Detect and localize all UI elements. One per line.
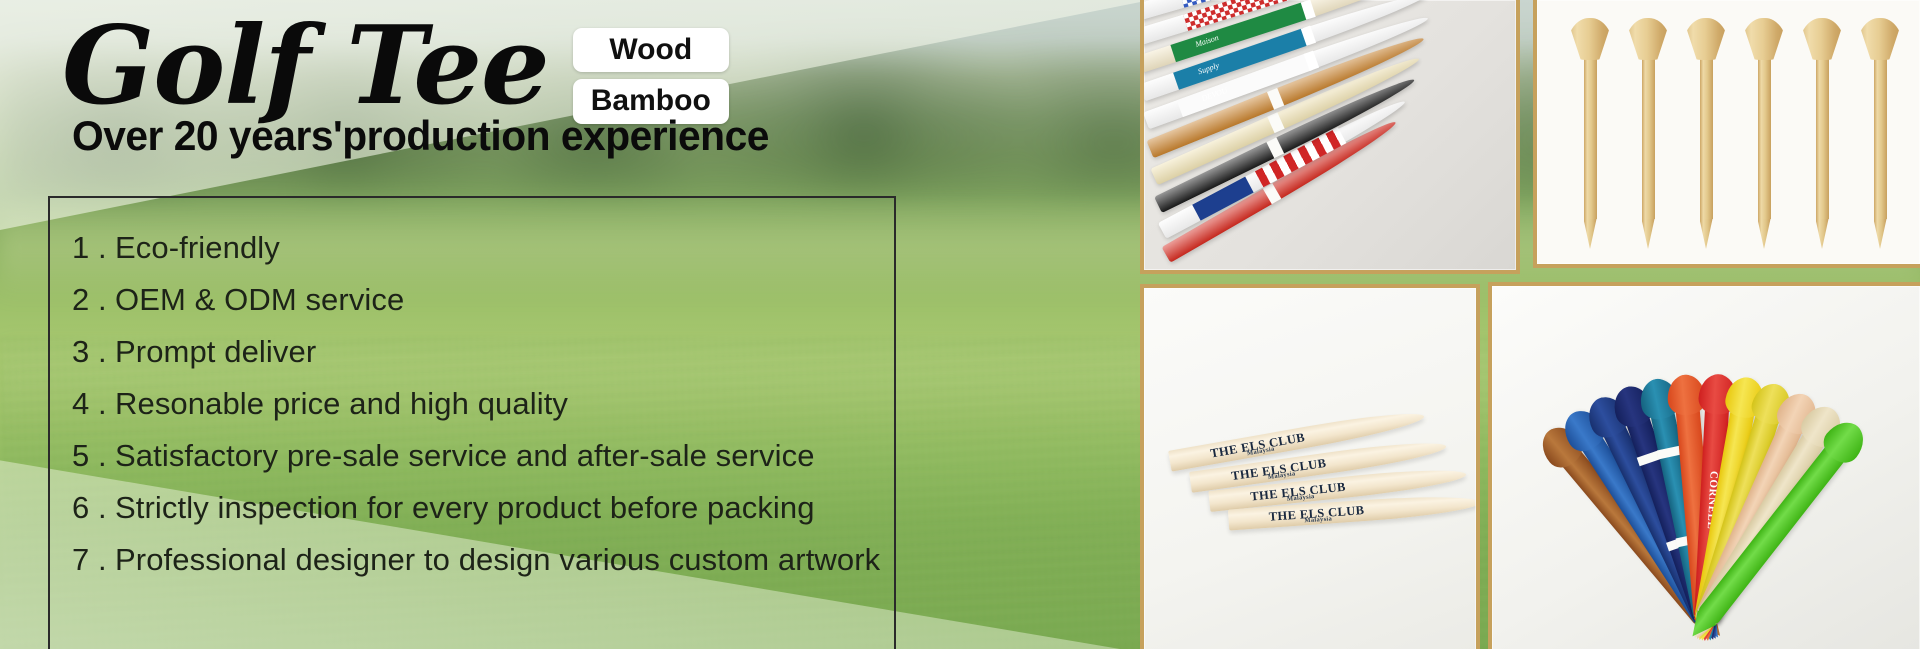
tee-tip — [1642, 219, 1655, 249]
tee-shaft — [1700, 59, 1713, 219]
tee-head — [1625, 18, 1671, 60]
bamboo-golf-tee — [1857, 18, 1903, 240]
bamboo-golf-tee — [1567, 18, 1613, 240]
feature-separator: . — [98, 232, 115, 263]
tee-shaft — [1874, 59, 1887, 219]
bamboo-golf-tee — [1625, 18, 1671, 240]
tee-head — [1741, 18, 1787, 60]
tee-tip — [1584, 219, 1597, 249]
feature-text: Eco-friendly — [115, 232, 280, 263]
list-item: 6 . Strictly inspection for every produc… — [72, 492, 894, 523]
feature-separator: . — [98, 388, 115, 419]
material-badge-group: Wood Bamboo — [573, 28, 729, 124]
badge-wood: Wood — [573, 28, 729, 72]
bamboo-golf-tee — [1741, 18, 1787, 240]
list-item: 7 . Professional designer to design vari… — [72, 544, 894, 575]
photo-els-club-tees: THE ELS CLUBMalaysiaTHE ELS CLUBMalaysia… — [1140, 284, 1480, 649]
feature-number: 3 — [72, 336, 98, 367]
text-content-column: Golf Tee Wood Bamboo Over 20 years'produ… — [0, 0, 1135, 649]
feature-text: Strictly inspection for every product be… — [115, 492, 815, 523]
list-item: 4 . Resonable price and high quality — [72, 388, 894, 419]
feature-text: Satisfactory pre-sale service and after-… — [115, 440, 815, 471]
tee-head — [1567, 18, 1613, 60]
list-item: 2 . OEM & ODM service — [72, 284, 894, 315]
feature-number: 4 — [72, 388, 98, 419]
photo-printed-wooden-tees: MaisonSupplyDEVOU — [1140, 0, 1520, 274]
bamboo-golf-tee — [1683, 18, 1729, 240]
photo-colored-painted-tees: CORNELL — [1488, 282, 1920, 649]
tee-shaft — [1642, 59, 1655, 219]
subtitle-experience: Over 20 years'production experience — [72, 112, 769, 160]
title-row: Golf Tee Wood Bamboo — [62, 8, 729, 125]
photo-image: CORNELL — [1492, 286, 1920, 649]
photo-image — [1537, 0, 1920, 264]
tee-band — [1262, 183, 1281, 204]
list-item: 5 . Satisfactory pre-sale service and af… — [72, 440, 894, 471]
product-photo-grid: MaisonSupplyDEVOU THE ELS CLUBMalaysiaTH… — [1135, 0, 1920, 649]
feature-number: 2 — [72, 284, 98, 315]
golf-tee-promo-banner: Golf Tee Wood Bamboo Over 20 years'produ… — [0, 0, 1920, 649]
tee-brand-subtext: Malaysia — [1304, 515, 1332, 524]
tee-tip — [1758, 219, 1771, 249]
feature-list: 1 . Eco-friendly 2 . OEM & ODM service 3… — [72, 232, 894, 575]
tee-brand-subtext: Malaysia — [1287, 493, 1315, 503]
tee-shaft — [1758, 59, 1771, 219]
feature-list-box: 1 . Eco-friendly 2 . OEM & ODM service 3… — [48, 196, 896, 649]
tee-head — [1857, 18, 1903, 60]
feature-number: 5 — [72, 440, 98, 471]
feature-number: 1 — [72, 232, 98, 263]
tee-head — [1683, 18, 1729, 60]
photo-natural-bamboo-tees — [1533, 0, 1920, 268]
tee-shaft — [1816, 59, 1829, 219]
tee-head — [1799, 18, 1845, 60]
feature-text: Professional designer to design various … — [115, 544, 880, 575]
tee-band — [1267, 112, 1284, 133]
feature-number: 6 — [72, 492, 98, 523]
list-item: 1 . Eco-friendly — [72, 232, 894, 263]
photo-image: MaisonSupplyDEVOU — [1144, 0, 1516, 270]
tee-tip — [1700, 219, 1713, 249]
tee-tip — [1874, 219, 1887, 249]
tee-band — [1267, 88, 1284, 110]
feature-separator: . — [98, 544, 115, 575]
feature-separator: . — [98, 492, 115, 523]
tee-tip — [1816, 219, 1829, 249]
feature-text: Resonable price and high quality — [115, 388, 568, 419]
feature-number: 7 — [72, 544, 98, 575]
feature-text: OEM & ODM service — [115, 284, 404, 315]
photo-image: THE ELS CLUBMalaysiaTHE ELS CLUBMalaysia… — [1144, 288, 1476, 649]
feature-separator: . — [98, 284, 115, 315]
bamboo-golf-tee — [1799, 18, 1845, 240]
feature-separator: . — [98, 336, 115, 367]
feature-text: Prompt deliver — [115, 336, 316, 367]
tee-band — [1267, 137, 1285, 158]
feature-separator: . — [98, 440, 115, 471]
list-item: 3 . Prompt deliver — [72, 336, 894, 367]
tee-shaft — [1584, 59, 1597, 219]
page-title: Golf Tee — [62, 8, 549, 125]
